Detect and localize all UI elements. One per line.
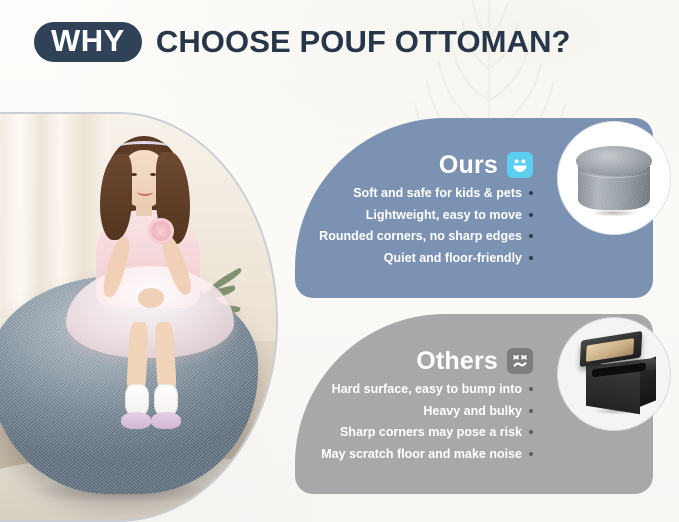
panel-title-others: Others — [416, 348, 533, 374]
hair-left — [100, 154, 132, 240]
eye-left — [131, 173, 137, 176]
bullet-text: Quiet and floor-friendly — [384, 252, 522, 265]
list-item: Hard surface, easy to bump into — [321, 383, 533, 396]
infographic-page: WHY CHOOSE POUF OTTOMAN? — [0, 0, 679, 522]
list-item: Lightweight, easy to move — [319, 209, 533, 222]
child-figure — [82, 130, 212, 430]
bullet-dot-icon — [529, 430, 533, 434]
gray-round-pouf-ottoman-image — [562, 126, 666, 230]
bullet-dot-icon — [529, 409, 533, 413]
bullet-text: Lightweight, easy to move — [366, 209, 522, 222]
smile — [137, 187, 153, 196]
bullet-text: May scratch floor and make noise — [321, 448, 522, 461]
bullet-list-ours: Soft and safe for kids & pets Lightweigh… — [319, 187, 533, 264]
list-item: Rounded corners, no sharp edges — [319, 230, 533, 243]
bullet-list-others: Hard surface, easy to bump into Heavy an… — [321, 383, 533, 460]
page-header: WHY CHOOSE POUF OTTOMAN? — [34, 22, 571, 62]
headband-icon — [118, 141, 170, 154]
bullet-dot-icon — [529, 256, 533, 260]
hands — [138, 288, 164, 308]
bullet-text: Heavy and bulky — [423, 405, 522, 418]
bullet-text: Soft and safe for kids & pets — [353, 187, 522, 200]
bullet-text: Hard surface, easy to bump into — [332, 383, 522, 396]
black-square-storage-ottoman-image — [562, 322, 666, 426]
bullet-text: Rounded corners, no sharp edges — [319, 230, 522, 243]
list-item: Sharp corners may pose a risk — [321, 426, 533, 439]
list-item: Heavy and bulky — [321, 405, 533, 418]
bullet-dot-icon — [529, 191, 533, 195]
bullet-dot-icon — [529, 234, 533, 238]
shoe-left — [121, 412, 151, 429]
tutu-skirt — [66, 266, 234, 358]
list-item: Soft and safe for kids & pets — [319, 187, 533, 200]
panel-title-label-ours: Ours — [439, 153, 498, 178]
list-item: May scratch floor and make noise — [321, 448, 533, 461]
thumbnail-ours-pouf — [558, 122, 670, 234]
page-title: CHOOSE POUF OTTOMAN? — [156, 26, 571, 58]
lifestyle-photo — [0, 112, 278, 522]
bullet-text: Sharp corners may pose a risk — [340, 426, 522, 439]
photo-scene — [0, 114, 276, 520]
panel-content-others: Others Hard surface, easy to bump into — [295, 314, 535, 494]
panel-title-label-others: Others — [416, 349, 498, 374]
confounded-face-icon — [507, 348, 533, 374]
pouf-texture — [576, 146, 652, 212]
shoe-right — [151, 412, 181, 429]
panel-content-ours: Ours Soft and safe for kids & pets Light… — [295, 118, 535, 298]
bullet-dot-icon — [529, 213, 533, 217]
why-badge: WHY — [34, 22, 142, 62]
eye-right — [150, 173, 156, 176]
bullet-dot-icon — [529, 452, 533, 456]
rose-applique — [148, 218, 174, 244]
thumbnail-others-box — [558, 318, 670, 430]
bullet-dot-icon — [529, 387, 533, 391]
grinning-face-icon — [507, 152, 533, 178]
panel-title-ours: Ours — [439, 152, 533, 178]
list-item: Quiet and floor-friendly — [319, 252, 533, 265]
